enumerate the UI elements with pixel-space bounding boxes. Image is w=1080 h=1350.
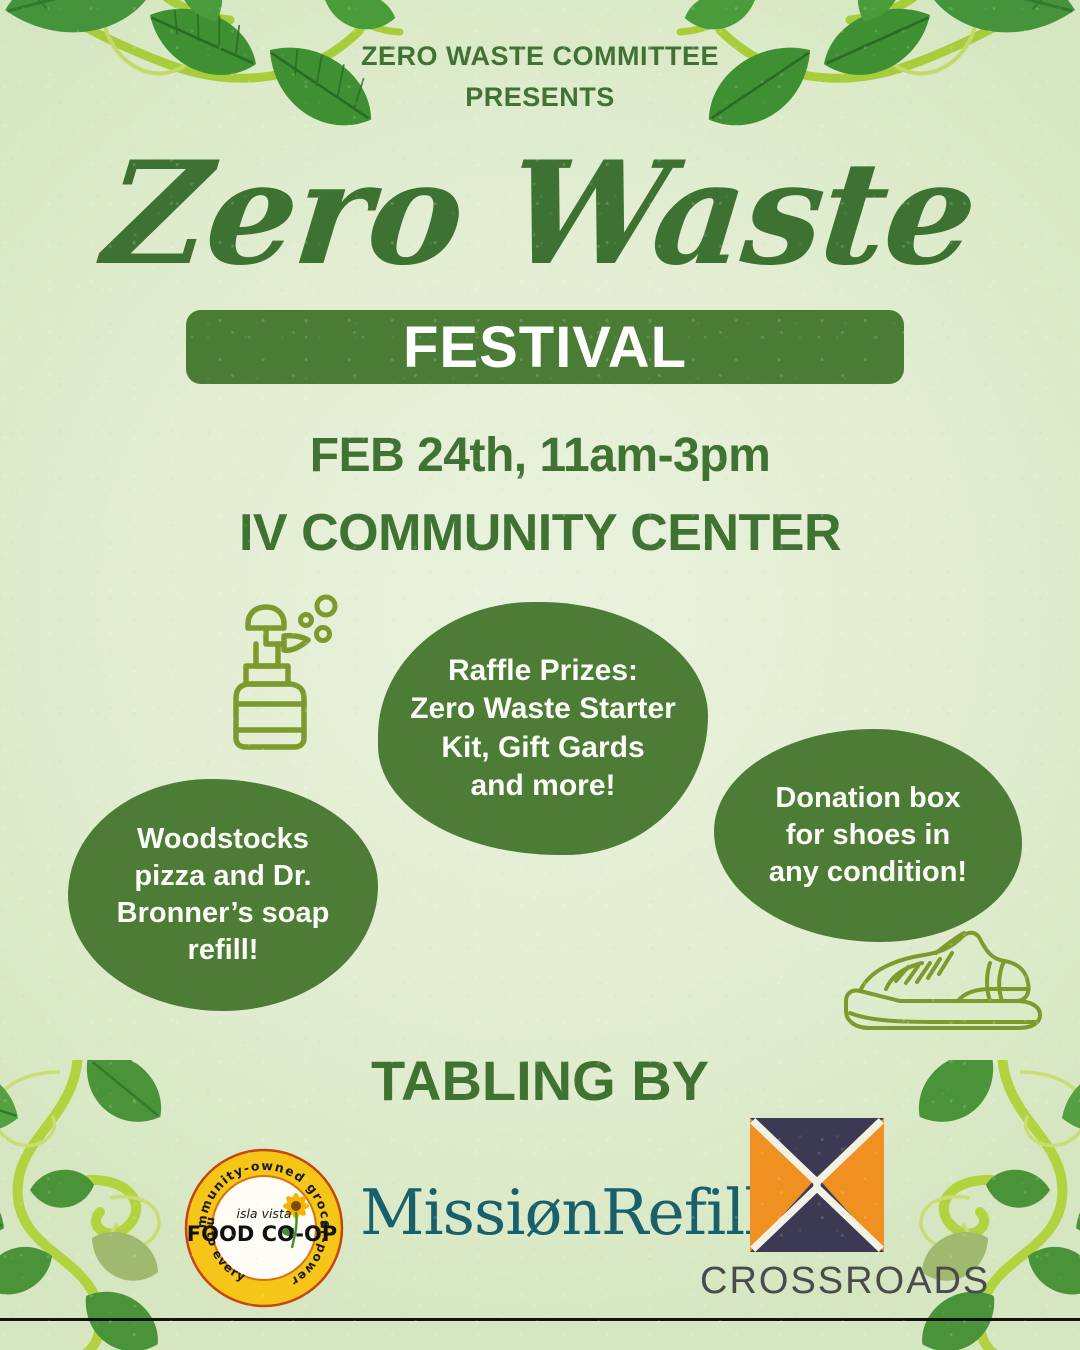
event-datetime: FEB 24th, 11am-3pm bbox=[0, 428, 1080, 483]
callout-raffle-prizes: Raffle Prizes: Zero Waste Starter Kit, G… bbox=[378, 602, 708, 855]
logo-iv-food-coop: community-owned grocery open to everyone… bbox=[184, 1148, 342, 1306]
crossroads-wordmark: CROSSROADS bbox=[700, 1260, 934, 1303]
bottom-divider bbox=[0, 1318, 1080, 1321]
presenter-line-2: PRESENTS bbox=[0, 77, 1080, 118]
callout-raffle-text: Raffle Prizes: Zero Waste Starter Kit, G… bbox=[410, 652, 676, 806]
presenter-heading: ZERO WASTE COMMITTEE PRESENTS bbox=[0, 36, 1080, 117]
poster-canvas: ZERO WASTE COMMITTEE PRESENTS Zero Waste… bbox=[0, 0, 1080, 1350]
sneaker-shoe-icon bbox=[840, 925, 1050, 1040]
coop-center-small: isla vista bbox=[236, 1206, 291, 1221]
festival-banner: FESTIVAL bbox=[186, 310, 904, 384]
callout-food-text: Woodstocks pizza and Dr. Bronner’s soap … bbox=[117, 821, 330, 969]
page-title-script: Zero Waste bbox=[0, 136, 1080, 292]
coop-center-big: FOOD CO-OP bbox=[187, 1222, 337, 1246]
soap-pump-bottle-icon bbox=[222, 592, 342, 752]
callout-shoes-text: Donation box for shoes in any condition! bbox=[769, 780, 967, 891]
crossroads-mark-icon bbox=[750, 1118, 884, 1252]
callout-food-and-soap: Woodstocks pizza and Dr. Bronner’s soap … bbox=[68, 779, 378, 1011]
callout-shoe-donation: Donation box for shoes in any condition! bbox=[714, 729, 1022, 942]
logo-mission-refill: MissiønRefill bbox=[360, 1176, 736, 1250]
festival-banner-label: FESTIVAL bbox=[403, 314, 687, 381]
sponsors-heading: TABLING BY bbox=[0, 1048, 1080, 1113]
logo-crossroads: CROSSROADS bbox=[700, 1118, 934, 1318]
presenter-line-1: ZERO WASTE COMMITTEE bbox=[361, 41, 719, 71]
event-venue: IV COMMUNITY CENTER bbox=[0, 503, 1080, 563]
